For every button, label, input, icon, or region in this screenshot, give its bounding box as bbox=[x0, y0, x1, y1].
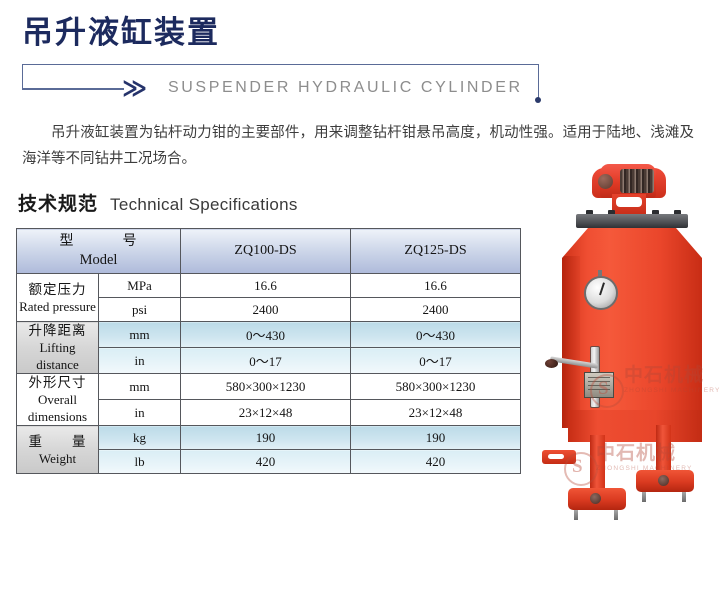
table-value-cell: 23×12×48 bbox=[351, 400, 521, 426]
table-value-cell: 16.6 bbox=[351, 274, 521, 298]
title-rule-dot bbox=[535, 97, 541, 103]
title-rule-bottom bbox=[22, 88, 124, 90]
table-unit-cell: mm bbox=[99, 322, 181, 348]
page-subtitle-english: SUSPENDER HYDRAULIC CYLINDER bbox=[168, 80, 523, 96]
table-value-cell: 190 bbox=[351, 426, 521, 450]
row-label-english: Weight bbox=[17, 450, 98, 467]
hook-spring bbox=[620, 169, 654, 193]
table-value-cell: 0～430 bbox=[351, 322, 521, 348]
table-row: 重 量Weightkg190190 bbox=[17, 426, 521, 450]
table-unit-cell: in bbox=[99, 348, 181, 374]
model-label-english: Model bbox=[17, 251, 180, 269]
spec-heading-english: Technical Specifications bbox=[110, 195, 298, 215]
table-header-row: 型号 Model ZQ100-DS ZQ125-DS bbox=[17, 229, 521, 274]
cylinder-body-left-edge bbox=[562, 256, 580, 428]
table-value-cell: 23×12×48 bbox=[181, 400, 351, 426]
table-value-cell: 420 bbox=[351, 450, 521, 474]
table-value-cell: 580×300×1230 bbox=[351, 374, 521, 400]
table-value-cell: 580×300×1230 bbox=[181, 374, 351, 400]
row-label-chinese: 升降距离 bbox=[17, 322, 98, 339]
table-unit-cell: psi bbox=[99, 298, 181, 322]
watermark-logo-letter: S bbox=[572, 456, 583, 478]
table-unit-cell: MPa bbox=[99, 274, 181, 298]
table-value-cell: 0～17 bbox=[351, 348, 521, 374]
row-label-chinese: 重 量 bbox=[17, 433, 98, 450]
cylinder-body-bevel-right bbox=[676, 228, 702, 258]
table-value-cell: 16.6 bbox=[181, 274, 351, 298]
table-value-cell: 0～430 bbox=[181, 322, 351, 348]
table-row: 外形尺寸Overall dimensionsmm580×300×1230580×… bbox=[17, 374, 521, 400]
product-image: 中石机械 ZHONGSHI MACHINERY 中石机械 ZHONGSHI MA… bbox=[528, 160, 725, 535]
table-row: 升降距离Lifting distancemm0～4300～430 bbox=[17, 322, 521, 348]
page-title: 吊升液缸装置 bbox=[22, 17, 220, 48]
table-unit-cell: mm bbox=[99, 374, 181, 400]
table-value-cell: 420 bbox=[181, 450, 351, 474]
table-row-label: 重 量Weight bbox=[17, 426, 99, 474]
table-row-label: 外形尺寸Overall dimensions bbox=[17, 374, 99, 426]
spec-section-heading: 技术规范 Technical Specifications bbox=[18, 189, 298, 216]
hook-gap bbox=[616, 197, 642, 207]
cylinder-body-bevel-left bbox=[562, 228, 588, 258]
table-value-cell: 2400 bbox=[351, 298, 521, 322]
foot-clamp-hole bbox=[590, 493, 601, 504]
watermark: 中石机械 ZHONGSHI MACHINERY bbox=[596, 438, 693, 472]
table-row: 额定压力Rated pressureMPa16.616.6 bbox=[17, 274, 521, 298]
spec-heading-chinese: 技术规范 bbox=[18, 189, 98, 216]
table-unit-cell: in bbox=[99, 400, 181, 426]
table-header-model-cell: 型号 Model bbox=[17, 229, 181, 274]
row-label-english: Rated pressure bbox=[17, 298, 98, 315]
model-label-chinese: 型号 bbox=[17, 233, 180, 251]
control-lever-knob bbox=[545, 359, 558, 368]
cylinder-lower-block bbox=[568, 410, 702, 442]
side-bracket-slot bbox=[548, 454, 564, 459]
table-row-label: 额定压力Rated pressure bbox=[17, 274, 99, 322]
table-value-cell: 2400 bbox=[181, 298, 351, 322]
table-value-cell: 190 bbox=[181, 426, 351, 450]
table-header-col-0: ZQ100-DS bbox=[181, 229, 351, 274]
table-header-col-1: ZQ125-DS bbox=[351, 229, 521, 274]
row-label-english: Overall dimensions bbox=[17, 391, 98, 425]
row-label-english: Lifting distance bbox=[17, 339, 98, 373]
row-label-chinese: 额定压力 bbox=[17, 281, 98, 298]
table-row-label: 升降距离Lifting distance bbox=[17, 322, 99, 374]
specifications-table-container: 型号 Model ZQ100-DS ZQ125-DS 额定压力Rated pre… bbox=[16, 228, 521, 474]
table-unit-cell: kg bbox=[99, 426, 181, 450]
table-unit-cell: lb bbox=[99, 450, 181, 474]
double-chevron-icon: ≫ bbox=[122, 77, 144, 101]
specifications-table: 型号 Model ZQ100-DS ZQ125-DS 额定压力Rated pre… bbox=[16, 228, 521, 474]
cylinder-body bbox=[562, 228, 702, 428]
hook-pin bbox=[598, 174, 613, 189]
top-mounting-plate bbox=[576, 214, 688, 228]
watermark-logo-letter: S bbox=[598, 378, 609, 400]
row-label-chinese: 外形尺寸 bbox=[17, 374, 98, 391]
table-value-cell: 0～17 bbox=[181, 348, 351, 374]
watermark-chinese: 中石机械 bbox=[596, 438, 693, 465]
foot-clamp-hole bbox=[658, 475, 669, 486]
